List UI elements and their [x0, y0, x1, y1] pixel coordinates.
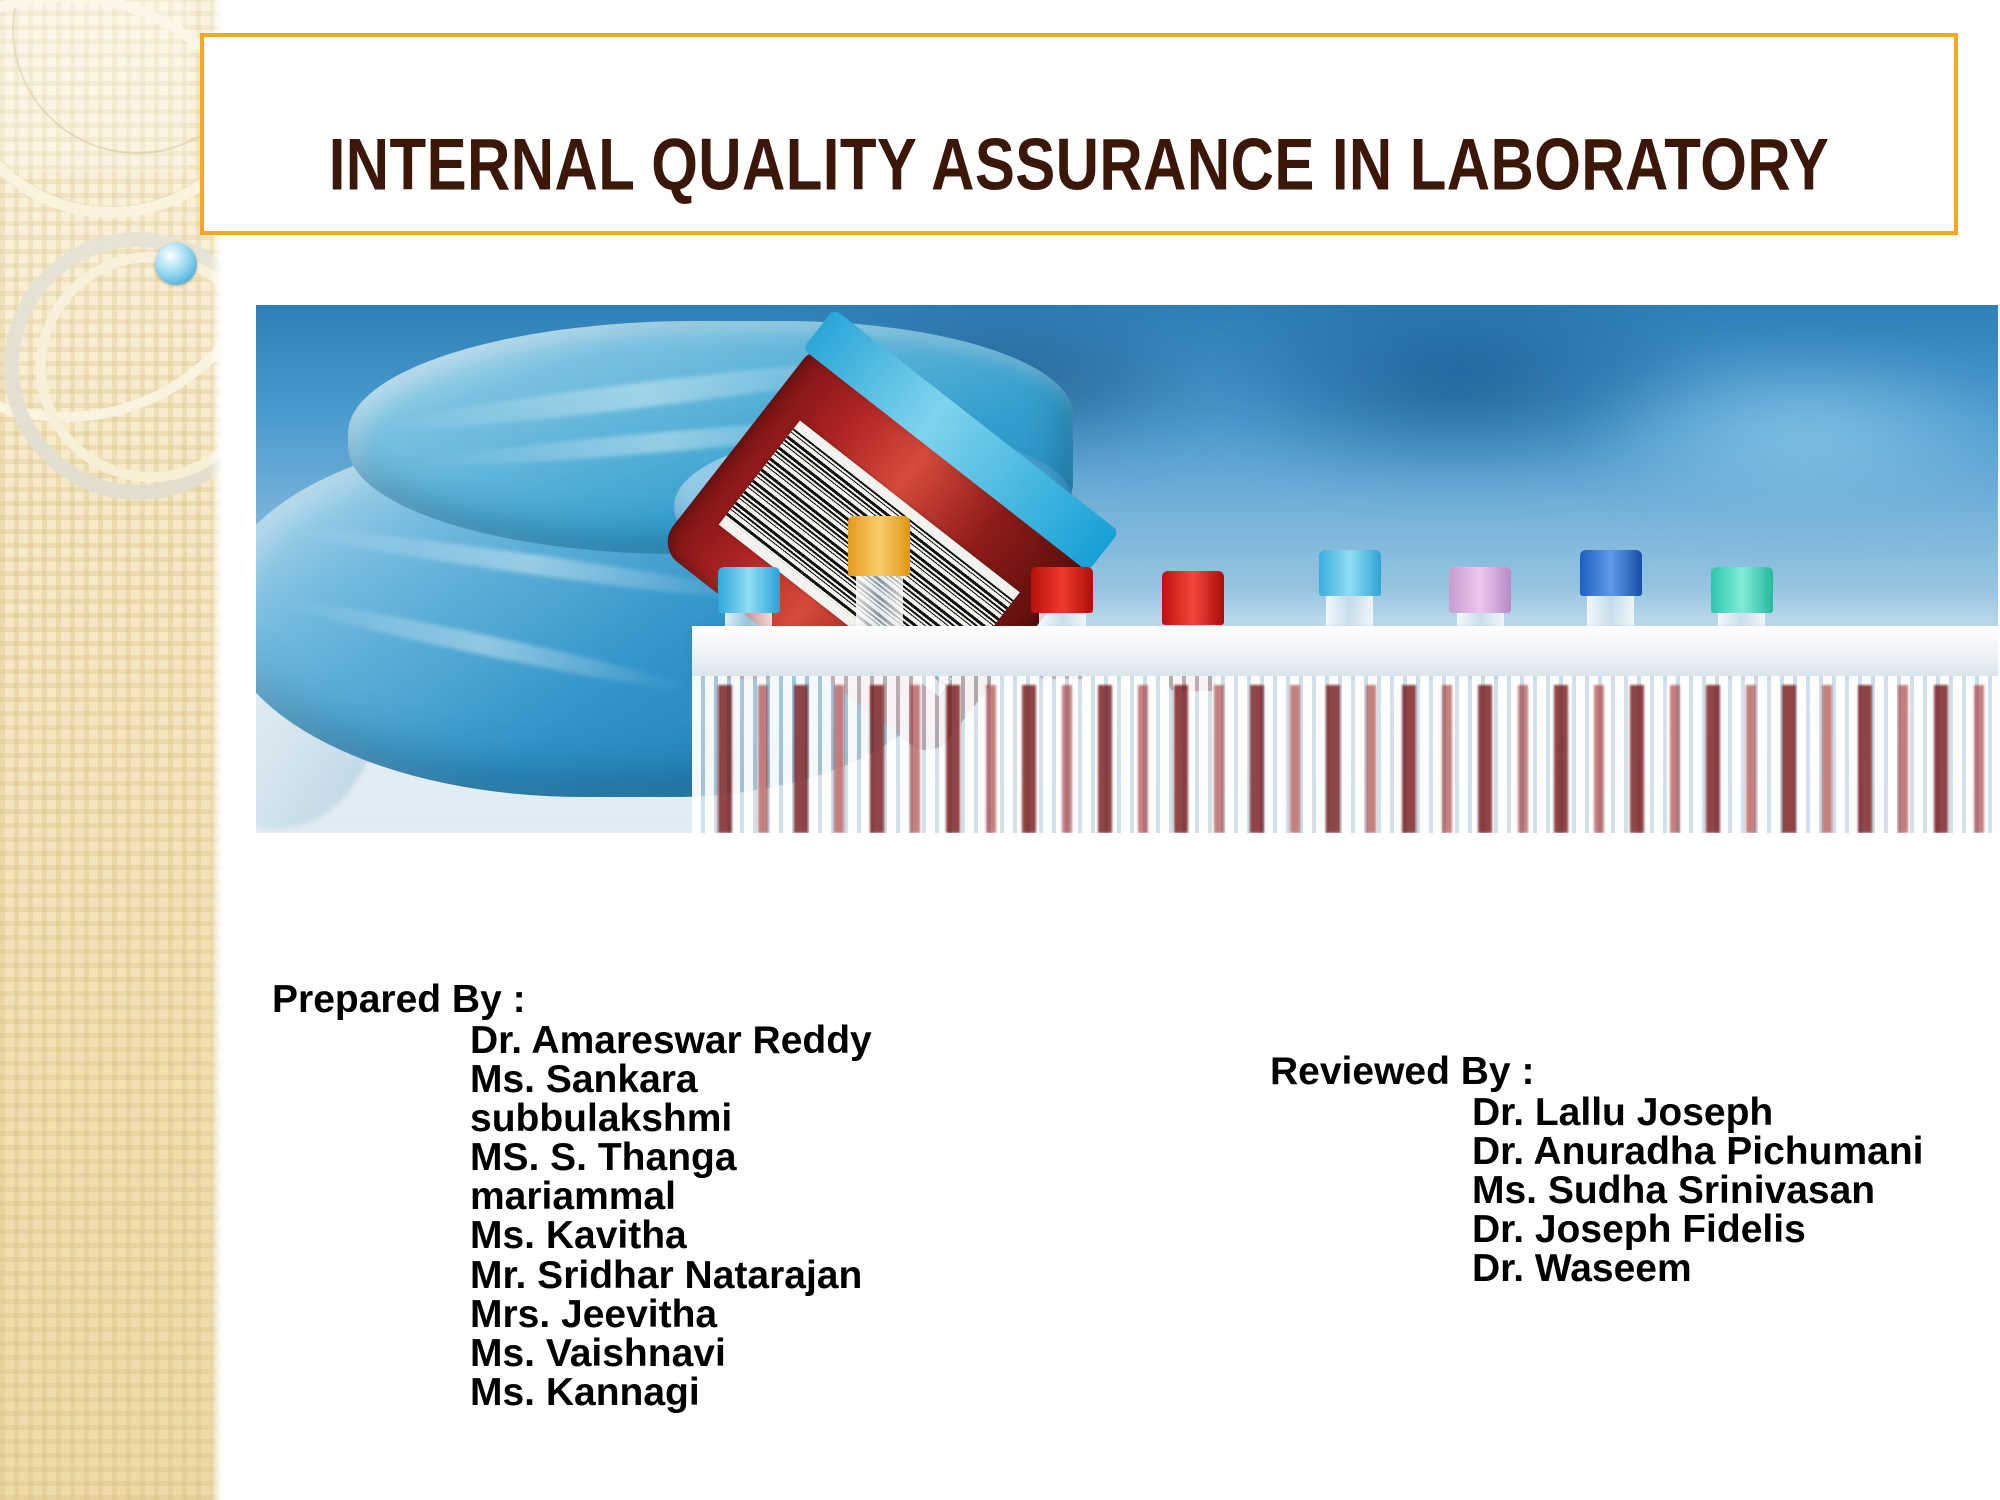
- laboratory-photo: [256, 305, 1998, 833]
- list-item: Dr. Lallu Joseph: [1472, 1093, 2000, 1132]
- presentation-slide: INTERNAL QUALITY ASSURANCE IN LABORATORY: [0, 0, 2000, 1500]
- photo-background-blob-right: [1580, 347, 1998, 527]
- list-item: Mr. Sridhar Natarajan: [470, 1256, 1012, 1295]
- blue-cap: [1580, 550, 1642, 596]
- page-title: INTERNAL QUALITY ASSURANCE IN LABORATORY: [329, 129, 1830, 231]
- title-box: INTERNAL QUALITY ASSURANCE IN LABORATORY: [200, 33, 1958, 235]
- decorative-sidebar: [0, 0, 222, 1500]
- reviewed-by-block: Reviewed By : Dr. Lallu Joseph Dr. Anura…: [1270, 1052, 2000, 1288]
- blue-sphere-icon: [155, 243, 197, 285]
- teal-cap: [1711, 567, 1773, 613]
- list-item: Ms. Sudha Srinivasan: [1472, 1171, 2000, 1210]
- orange-cap: [848, 516, 910, 576]
- red-cap-1: [1031, 567, 1093, 613]
- cyan-cap: [718, 567, 780, 613]
- rack-blood-column-row: [692, 685, 1999, 833]
- tube-rack: [692, 537, 1999, 833]
- list-item: Mrs. Jeevitha: [470, 1295, 1012, 1334]
- list-item: subbulakshmi: [470, 1099, 1012, 1138]
- pink-cap: [1449, 567, 1511, 613]
- sky-cap: [1319, 550, 1381, 596]
- list-item: Ms. Kannagi: [470, 1373, 1012, 1412]
- list-item: Dr. Waseem: [1472, 1249, 2000, 1288]
- prepared-by-heading: Prepared By :: [272, 980, 1012, 1021]
- list-item: Dr. Amareswar Reddy: [470, 1021, 1012, 1060]
- list-item: Dr. Joseph Fidelis: [1472, 1210, 2000, 1249]
- red-cap-2: [1162, 571, 1224, 625]
- list-item: Ms. Sankara: [470, 1060, 1012, 1099]
- list-item: Ms. Kavitha: [470, 1216, 1012, 1255]
- prepared-by-list: Dr. Amareswar Reddy Ms. Sankara subbulak…: [272, 1021, 1012, 1413]
- reviewed-by-list: Dr. Lallu Joseph Dr. Anuradha Pichumani …: [1270, 1093, 2000, 1289]
- list-item: Dr. Anuradha Pichumani: [1472, 1132, 2000, 1171]
- list-item: mariammal: [470, 1177, 1012, 1216]
- reviewed-by-heading: Reviewed By :: [1270, 1052, 2000, 1093]
- list-item: Ms. Vaishnavi: [470, 1334, 1012, 1373]
- rack-top-plate: [692, 626, 1999, 676]
- prepared-by-block: Prepared By : Dr. Amareswar Reddy Ms. Sa…: [272, 980, 1012, 1412]
- list-item: MS. S. Thanga: [470, 1138, 1012, 1177]
